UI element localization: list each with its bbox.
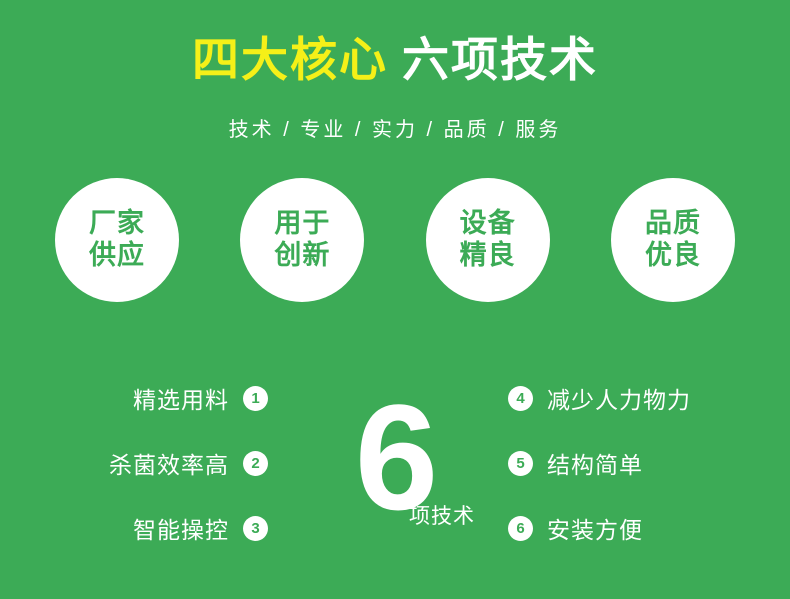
feature-label: 智能操控 — [133, 511, 229, 545]
poster-title: 四大核心六项技术 — [0, 36, 790, 83]
feature-label: 安装方便 — [547, 511, 643, 545]
feature-item: 精选用料 1 — [78, 376, 268, 420]
circle-badge-2: 用于 创新 — [240, 178, 364, 302]
feature-label: 减少人力物力 — [547, 381, 691, 415]
poster-root: 四大核心六项技术 技术 / 专业 / 实力 / 品质 / 服务 厂家 供应 用于… — [0, 0, 790, 599]
feature-number-badge: 4 — [508, 386, 533, 411]
feature-number-badge: 2 — [243, 451, 268, 476]
feature-label: 精选用料 — [133, 381, 229, 415]
feature-list-left: 精选用料 1 杀菌效率高 2 智能操控 3 — [78, 376, 268, 571]
feature-label: 杀菌效率高 — [109, 446, 229, 480]
feature-number-badge: 3 — [243, 516, 268, 541]
poster-subtitle: 技术 / 专业 / 实力 / 品质 / 服务 — [0, 113, 790, 142]
title-highlight: 四大核心 — [192, 33, 388, 86]
circle-badge-4: 品质 优良 — [611, 178, 735, 302]
circle-badge-4-line2: 优良 — [645, 240, 701, 272]
circle-badge-2-line2: 创新 — [274, 240, 330, 272]
circle-badge-2-line1: 用于 — [274, 208, 330, 240]
circle-badge-1: 厂家 供应 — [55, 178, 179, 302]
feature-item: 6 安装方便 — [508, 506, 748, 550]
feature-item: 杀菌效率高 2 — [78, 441, 268, 485]
circle-badge-4-line1: 品质 — [645, 208, 701, 240]
circle-badge-3-line1: 设备 — [460, 208, 516, 240]
circle-badges: 厂家 供应 用于 创新 设备 精良 品质 优良 — [55, 178, 735, 306]
feature-list-right: 4 减少人力物力 5 结构简单 6 安装方便 — [508, 376, 748, 571]
circle-badge-1-line1: 厂家 — [89, 208, 145, 240]
feature-label: 结构简单 — [547, 446, 643, 480]
circle-badge-1-line2: 供应 — [89, 240, 145, 272]
feature-number-badge: 5 — [508, 451, 533, 476]
big-number-caption: 项技术 — [409, 500, 475, 530]
circle-badge-3-line2: 精良 — [460, 240, 516, 272]
feature-item: 4 减少人力物力 — [508, 376, 748, 420]
feature-item: 智能操控 3 — [78, 506, 268, 550]
feature-number-badge: 6 — [508, 516, 533, 541]
title-rest: 六项技术 — [402, 33, 598, 86]
circle-badge-3: 设备 精良 — [426, 178, 550, 302]
feature-number-badge: 1 — [243, 386, 268, 411]
feature-item: 5 结构简单 — [508, 441, 748, 485]
